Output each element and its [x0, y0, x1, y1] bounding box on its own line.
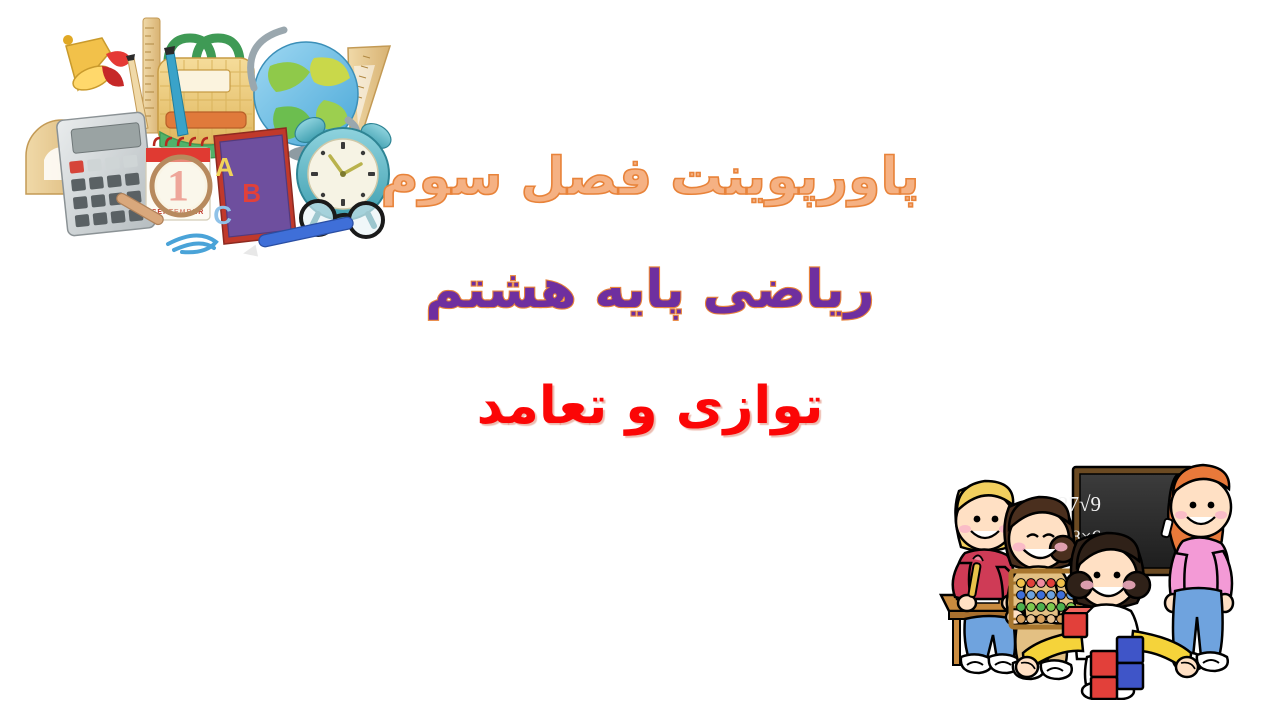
calculator-icon	[56, 112, 156, 237]
children-classroom-clipart: 9√27 6×8=	[905, 445, 1280, 700]
abc-book-icon: A B C	[213, 128, 296, 244]
school-supplies-svg: 1 SEPTEMBER A B C	[18, 8, 418, 263]
title-line-topic: توازی و تعامد	[380, 379, 920, 434]
paper-clip-icon	[168, 235, 216, 252]
school-bell-icon	[63, 35, 132, 95]
book-letter-c: C	[213, 200, 232, 230]
children-classroom-svg: 9√27 6×8=	[905, 445, 1280, 700]
book-letter-a: A	[215, 152, 234, 182]
slide-title-block: پاورپوینت فصل سوم ریاضی پایه هشتم توازی …	[380, 150, 920, 434]
book-letter-b: B	[242, 178, 261, 208]
school-supplies-clipart: 1 SEPTEMBER A B C	[18, 8, 418, 263]
presentation-slide: 1 SEPTEMBER A B C	[0, 0, 1280, 720]
title-line-subject-grade: ریاضی پایه هشتم	[380, 263, 920, 318]
title-line-powerpoint-chapter: پاورپوینت فصل سوم	[380, 150, 920, 205]
